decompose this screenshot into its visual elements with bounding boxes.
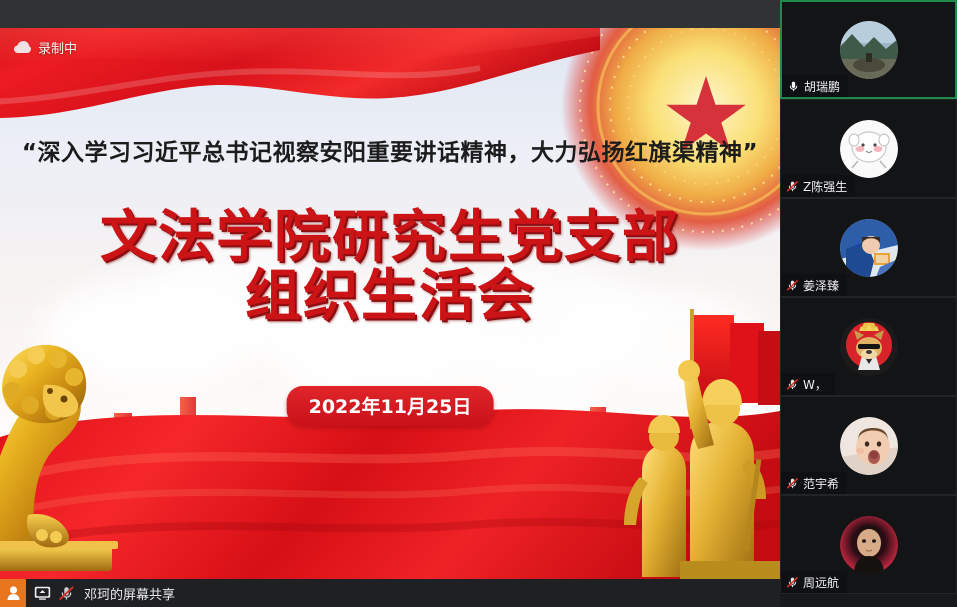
participant-tile[interactable]: 范宇希 [780, 396, 957, 495]
cartoon-face-avatar [840, 120, 898, 178]
participant-tile[interactable]: W， [780, 297, 957, 396]
avatar [840, 21, 898, 79]
shared-window-top-band [0, 0, 780, 28]
zoom-meeting-window: “深入学习习近平总书记视察安阳重要讲话精神，大力弘扬红旗渠精神” 文法学院研究生… [0, 0, 957, 607]
mic-muted-icon [786, 179, 799, 194]
slide-title: 文法学院研究生党支部 组织生活会 [0, 208, 780, 327]
slide-text-layer: “深入学习习近平总书记视察安阳重要讲话精神，大力弘扬红旗渠精神” 文法学院研究生… [0, 28, 780, 579]
avatar [840, 417, 898, 475]
mic-on-icon [787, 79, 800, 94]
participant-label: Z陈强生 [781, 175, 855, 197]
participant-label: 周远航 [781, 571, 847, 593]
participant-label: 胡瑞鹏 [782, 75, 848, 97]
participant-strip[interactable]: 胡瑞鹏 [780, 0, 957, 607]
recording-indicator: 录制中 [14, 38, 77, 57]
shared-screen-stage[interactable]: “深入学习习近平总书记视察安阳重要讲话精神，大力弘扬红旗渠精神” 文法学院研究生… [0, 0, 780, 607]
presentation-slide: “深入学习习近平总书记视察安阳重要讲话精神，大力弘扬红旗渠精神” 文法学院研究生… [0, 28, 780, 579]
avatar [840, 120, 898, 178]
sharing-label: 邓珂的屏幕共享 [84, 584, 175, 603]
user-silhouette-icon [7, 586, 20, 600]
avatar [840, 318, 898, 376]
participant-name: 范宇希 [803, 475, 839, 492]
avatar [840, 516, 898, 574]
participant-count-button[interactable] [0, 579, 26, 607]
participant-tile[interactable]: 姜泽臻 [780, 198, 957, 297]
slide-quote: “深入学习习近平总书记视察安阳重要讲话精神，大力弘扬红旗渠精神” [0, 133, 780, 167]
cloud-recording-icon [14, 41, 31, 54]
participant-label: 姜泽臻 [781, 274, 847, 296]
slide-title-line-1: 文法学院研究生党支部 [0, 208, 780, 267]
mic-muted-icon [786, 278, 799, 293]
participant-name: 胡瑞鹏 [804, 78, 840, 95]
participant-label: W， [781, 373, 835, 395]
recording-label: 录制中 [38, 38, 77, 57]
participant-name: Z陈强生 [803, 178, 847, 195]
participant-name: 姜泽臻 [803, 277, 839, 294]
share-status-bar: 邓珂的屏幕共享 [0, 579, 780, 607]
share-bar-icons [34, 586, 75, 601]
avatar [840, 219, 898, 277]
participant-tile[interactable]: 胡瑞鹏 [780, 0, 957, 99]
mic-muted-icon [786, 575, 799, 590]
mic-muted-icon [786, 377, 799, 392]
slide-title-line-2: 组织生活会 [0, 267, 780, 326]
slide-date-badge: 2022年11月25日 [287, 386, 494, 426]
participant-name: W， [803, 376, 827, 393]
person-photo-avatar [840, 219, 898, 277]
doge-meme-avatar [840, 318, 898, 376]
portrait-photo-avatar [840, 516, 898, 574]
participant-tile[interactable]: Z陈强生 [780, 99, 957, 198]
child-photo-avatar [840, 417, 898, 475]
mic-muted-icon [786, 476, 799, 491]
mic-muted-icon[interactable] [58, 586, 75, 601]
screen-share-icon[interactable] [34, 586, 51, 600]
landscape-photo-avatar [840, 21, 898, 79]
participant-name: 周远航 [803, 574, 839, 591]
participant-label: 范宇希 [781, 472, 847, 494]
participant-tile[interactable]: 周远航 [780, 495, 957, 594]
